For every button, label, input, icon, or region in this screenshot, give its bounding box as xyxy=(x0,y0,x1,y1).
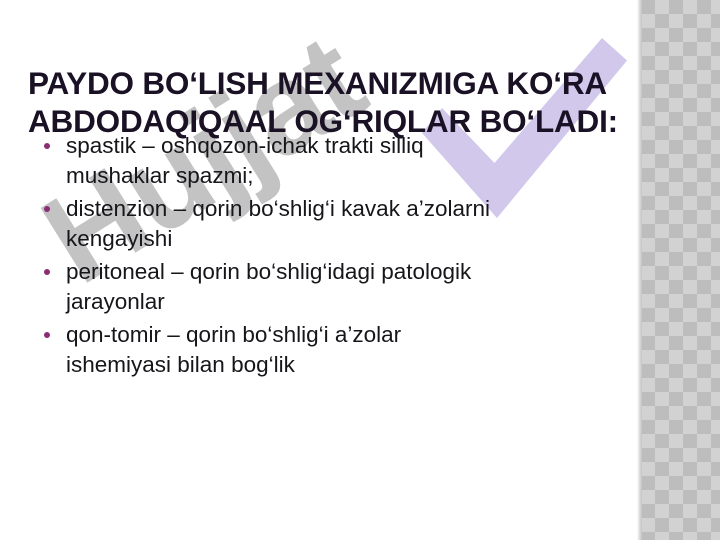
list-item-label: qon-tomir – qorin bo‘shlig‘i a’zolar ish… xyxy=(66,320,640,380)
slide-canvas: Hujjat PAYDO BO‘LISH MEXANIZMIGA KO‘RA A… xyxy=(0,0,720,540)
list-item-label: distenzion – qorin bo‘shlig‘i kavak a’zo… xyxy=(66,194,640,254)
page-title: PAYDO BO‘LISH MEXANIZMIGA KO‘RA ABDODAQI… xyxy=(28,64,696,140)
list-item-label: peritoneal – qorin bo‘shlig‘idagi patolo… xyxy=(66,257,640,317)
list-item: peritoneal – qorin bo‘shlig‘idagi patolo… xyxy=(40,257,640,317)
bullet-list: spastik – oshqozon-ichak trakti silliq m… xyxy=(40,131,640,383)
list-item: distenzion – qorin bo‘shlig‘i kavak a’zo… xyxy=(40,194,640,254)
list-item-label: spastik – oshqozon-ichak trakti silliq m… xyxy=(66,131,640,191)
bullet-dot-icon xyxy=(44,206,50,212)
bullet-dot-icon xyxy=(44,332,50,338)
bullet-dot-icon xyxy=(44,269,50,275)
bullet-dot-icon xyxy=(44,143,50,149)
list-item: qon-tomir – qorin bo‘shlig‘i a’zolar ish… xyxy=(40,320,640,380)
list-item: spastik – oshqozon-ichak trakti silliq m… xyxy=(40,131,640,191)
